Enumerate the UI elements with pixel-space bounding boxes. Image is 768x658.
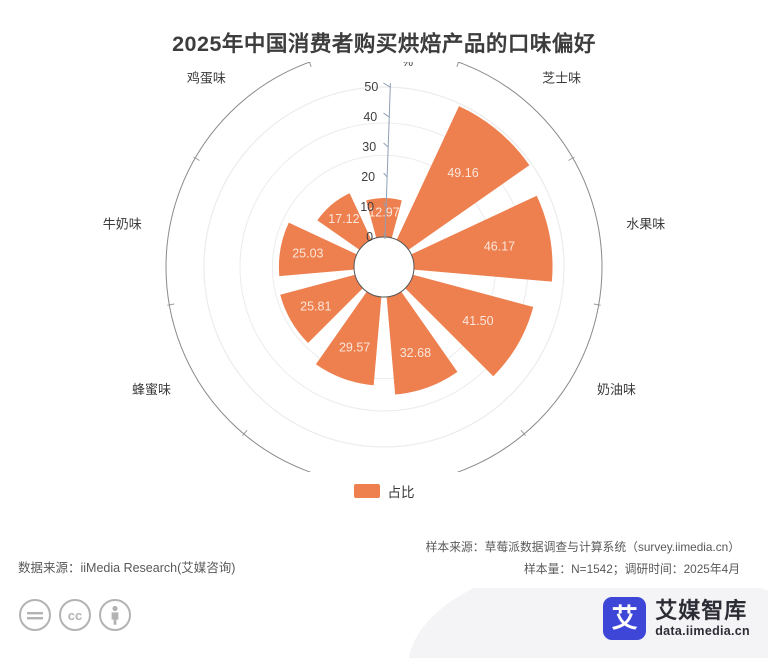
brand-logo: 艾 艾媒智库 data.iimedia.cn bbox=[603, 597, 750, 640]
chart-legend: 占比 bbox=[0, 481, 768, 501]
chart-page: 2025年中国消费者购买烘焙产品的口味偏好 12.97抹茶味49.16芝士味46… bbox=[0, 0, 768, 658]
sector-value-label: 17.12 bbox=[328, 212, 359, 226]
category-label: 奶油味 bbox=[597, 382, 636, 397]
axis-tick-label: 40 bbox=[363, 110, 377, 124]
axis-tick-label: 30 bbox=[362, 140, 376, 154]
person-icon bbox=[98, 598, 132, 632]
brand-mark-icon: 艾 bbox=[603, 597, 646, 640]
category-label: 蜂蜜味 bbox=[132, 382, 171, 397]
category-label: 牛奶味 bbox=[103, 216, 142, 231]
category-label: 水果味 bbox=[626, 216, 665, 231]
legend-swatch bbox=[354, 484, 380, 498]
sector-value-label: 25.03 bbox=[292, 247, 323, 261]
axis-tick-label: 10 bbox=[360, 200, 374, 214]
brand-name: 艾媒智库 bbox=[655, 599, 750, 624]
page-title: 2025年中国消费者购买烘焙产品的口味偏好 bbox=[0, 27, 768, 58]
legend-label: 占比 bbox=[388, 481, 415, 501]
sector-value-label: 32.68 bbox=[400, 346, 431, 360]
sample-size-line: 样本量：N=1542；调研时间：2025年4月 bbox=[426, 559, 740, 581]
axis-unit-label: % bbox=[402, 62, 413, 69]
sector-value-label: 29.57 bbox=[339, 341, 370, 355]
sample-note: 样本来源：草莓派数据调查与计算系统（survey.iimedia.cn） 样本量… bbox=[426, 537, 740, 581]
axis-tick-label: 20 bbox=[361, 170, 375, 184]
sector-value-label: 25.81 bbox=[300, 299, 331, 313]
cc-icon: cc bbox=[58, 598, 92, 632]
equals-icon bbox=[18, 598, 52, 632]
axis-tick-label: 50 bbox=[364, 80, 378, 94]
category-label: 芝士味 bbox=[542, 71, 581, 86]
sector-value-label: 46.17 bbox=[484, 240, 515, 254]
brand-text: 艾媒智库 data.iimedia.cn bbox=[655, 599, 750, 638]
axis-tick-label: 0 bbox=[366, 230, 373, 244]
rose-chart: 12.97抹茶味49.16芝士味46.17水果味41.50奶油味32.68豆类味… bbox=[0, 62, 768, 472]
category-label: 鸡蛋味 bbox=[187, 71, 226, 86]
creative-commons-icons: cc bbox=[18, 598, 132, 632]
rose-chart-svg: 12.97抹茶味49.16芝士味46.17水果味41.50奶油味32.68豆类味… bbox=[0, 62, 768, 472]
sample-source-line: 样本来源：草莓派数据调查与计算系统（survey.iimedia.cn） bbox=[426, 537, 740, 559]
brand-url: data.iimedia.cn bbox=[655, 624, 750, 638]
sector-value-label: 41.50 bbox=[462, 314, 493, 328]
footer-bar: cc 艾 艾媒智库 data.iimedia.cn bbox=[0, 588, 768, 658]
data-source-note: 数据来源：iiMedia Research(艾媒咨询) bbox=[18, 557, 235, 576]
svg-text:cc: cc bbox=[68, 608, 82, 623]
sector-value-label: 49.16 bbox=[447, 166, 478, 180]
